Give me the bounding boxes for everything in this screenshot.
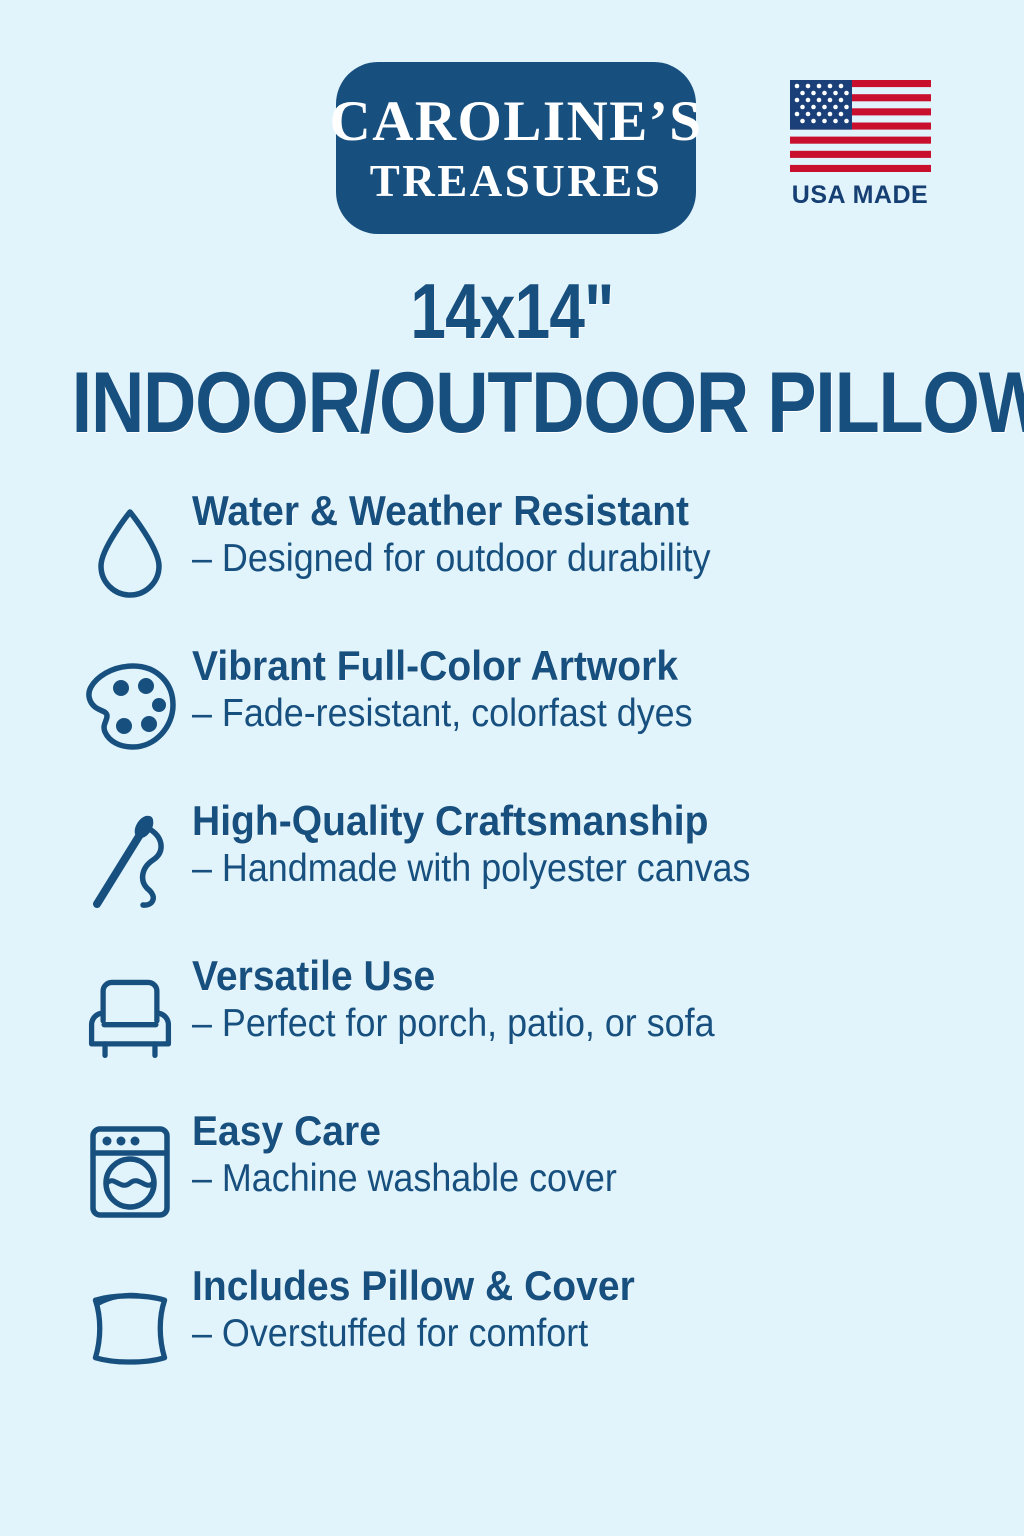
pillow-icon [82,1275,178,1379]
paint-palette-icon [82,655,178,759]
feature-text: Includes Pillow & Cover – Overstuffed fo… [192,1261,668,1357]
feature-subtitle: – Fade-resistant, colorfast dyes [192,692,693,737]
feature-item: High-Quality Craftsmanship – Handmade wi… [0,796,1024,951]
feature-text: Versatile Use – Perfect for porch, patio… [192,951,760,1047]
feature-subtitle: – Handmade with polyester canvas [192,847,750,892]
feature-item: Easy Care – Machine washable cover [0,1106,1024,1261]
feature-item: Versatile Use – Perfect for porch, patio… [0,951,1024,1106]
feature-title: Vibrant Full-Color Artwork [192,643,698,688]
feature-title: Water & Weather Resistant [192,488,716,533]
washing-machine-icon [82,1120,178,1224]
brand-logo-line-1: CAROLINE’S [330,93,703,150]
feature-item: Vibrant Full-Color Artwork – Fade-resist… [0,641,1024,796]
feature-text: Easy Care – Machine washable cover [192,1106,654,1202]
feature-title: Easy Care [192,1108,621,1153]
feature-subtitle: – Overstuffed for comfort [192,1312,630,1357]
feature-title: Includes Pillow & Cover [192,1263,635,1308]
brand-logo-line-2: TREASURES [370,159,663,204]
needle-and-thread-icon [82,810,178,914]
feature-text: High-Quality Craftsmanship – Handmade wi… [192,796,799,892]
usa-flag-icon [790,80,931,172]
product-feature-infographic: CAROLINE’S TREASURES [0,0,1024,1536]
water-droplet-icon [82,500,178,604]
product-size-title: 14x14" [92,272,932,350]
feature-item: Includes Pillow & Cover – Overstuffed fo… [0,1261,1024,1416]
feature-subtitle: – Perfect for porch, patio, or sofa [192,1002,715,1047]
feature-title: Versatile Use [192,953,720,998]
usa-made-badge: USA MADE [786,80,934,210]
feature-item: Water & Weather Resistant – Designed for… [0,486,1024,641]
usa-made-label: USA MADE [792,181,928,210]
brand-logo: CAROLINE’S TREASURES [336,62,696,234]
product-name-title: INDOOR/OUTDOOR PILLOW [72,358,953,448]
header: CAROLINE’S TREASURES [0,62,1024,232]
armchair-icon [82,965,178,1069]
feature-list: Water & Weather Resistant – Designed for… [0,486,1024,1416]
feature-subtitle: – Machine washable cover [192,1157,617,1202]
feature-text: Vibrant Full-Color Artwork – Fade-resist… [192,641,736,737]
feature-subtitle: – Designed for outdoor durability [192,537,711,582]
feature-text: Water & Weather Resistant – Designed for… [192,486,756,582]
feature-title: High-Quality Craftsmanship [192,798,757,843]
